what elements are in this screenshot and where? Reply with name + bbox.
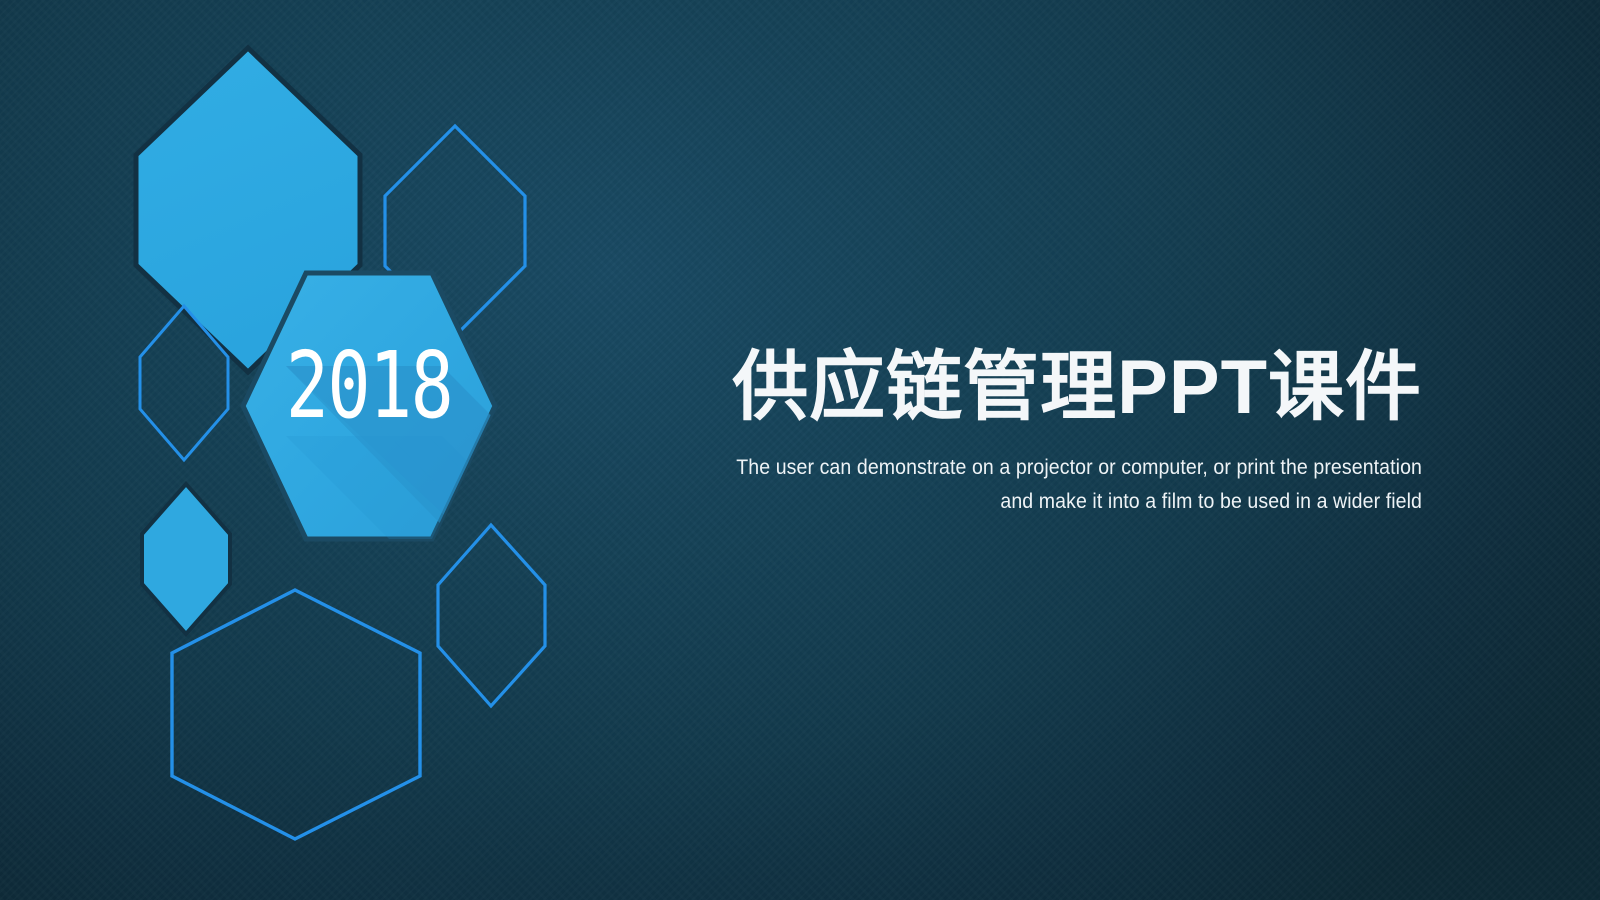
hex-filled-small-left [142, 484, 230, 634]
presentation-slide: 2018 供应链管理PPT课件 The user can demonstrate… [0, 0, 1600, 900]
title-text-block: 供应链管理PPT课件 The user can demonstrate on a… [660, 348, 1422, 519]
page-title: 供应链管理PPT课件 [660, 348, 1422, 429]
hex-outline-mid-right [438, 525, 545, 706]
subtitle-line-2: and make it into a film to be used in a … [713, 485, 1422, 519]
subtitle: The user can demonstrate on a projector … [713, 451, 1422, 519]
subtitle-line-1: The user can demonstrate on a projector … [713, 451, 1422, 485]
hex-outline-large-bottom [172, 590, 420, 839]
hex-filled-year [243, 273, 700, 694]
